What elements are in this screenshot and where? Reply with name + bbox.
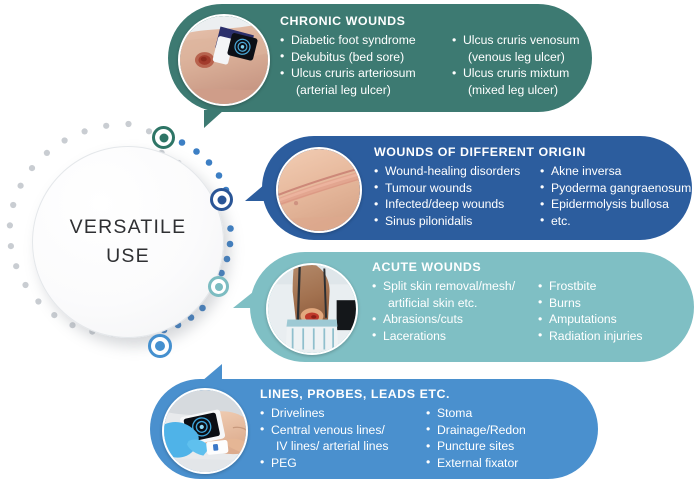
panel-chronic-col-right: Ulcus cruris venosum (venous leg ulcer) …: [452, 32, 580, 98]
hub-title-line-2: USE: [106, 242, 150, 271]
list-item: Radiation injuries: [538, 328, 643, 345]
list-item: (mixed leg ulcer): [452, 82, 580, 99]
list-item: IV lines/ arterial lines: [260, 438, 426, 455]
panel-content-lines: LINES, PROBES, LEADS ETC. Drivelines Cen…: [248, 379, 598, 471]
list-item: Pyoderma gangraenosum: [540, 180, 691, 197]
list-item: Abrasions/cuts: [372, 311, 538, 328]
hub-circle: VERSATILE USE: [32, 146, 224, 338]
list-item: Wound-healing disorders: [374, 163, 540, 180]
panel-origin-col-right: Akne inversa Pyoderma gangraenosum Epide…: [540, 163, 691, 229]
list-item: Lacerations: [372, 328, 538, 345]
list-item: Diabetic foot syndrome: [280, 32, 452, 49]
infographic-canvas: VERSATILE USE: [0, 0, 700, 483]
list-item: Drivelines: [260, 405, 426, 422]
panel-title-origin: WOUNDS OF DIFFERENT ORIGIN: [374, 145, 692, 159]
list-item: Ulcus cruris arteriosum: [280, 65, 452, 82]
list-item: Ulcus cruris mixtum: [452, 65, 580, 82]
list-item: Epidermolysis bullosa: [540, 196, 691, 213]
panel-lines-col-left: Drivelines Central venous lines/ IV line…: [260, 405, 426, 471]
list-item: etc.: [540, 213, 691, 230]
list-item: External fixator: [426, 455, 526, 472]
panel-lines-probes-leads[interactable]: LINES, PROBES, LEADS ETC. Drivelines Cen…: [150, 379, 598, 479]
list-item: Burns: [538, 295, 643, 312]
hub-group: VERSATILE USE: [6, 118, 251, 366]
panel-wounds-of-different-origin[interactable]: WOUNDS OF DIFFERENT ORIGIN Wound-healing…: [262, 136, 692, 240]
list-item: artificial skin etc.: [372, 295, 538, 312]
connector-node-lines: [148, 334, 172, 358]
panel-content-acute: ACUTE WOUNDS Split skin removal/mesh/ ar…: [358, 252, 694, 344]
panel-chronic-col-left: Diabetic foot syndrome Dekubitus (bed so…: [280, 32, 452, 98]
list-item: Puncture sites: [426, 438, 526, 455]
list-item: Stoma: [426, 405, 526, 422]
thumbnail-lines-probes: [162, 388, 248, 474]
list-item: Dekubitus (bed sore): [280, 49, 452, 66]
list-item: Frostbite: [538, 278, 643, 295]
list-item: Central venous lines/: [260, 422, 426, 439]
thumbnail-chronic-wound: [178, 14, 270, 106]
list-item: Split skin removal/mesh/: [372, 278, 538, 295]
panel-origin-col-left: Wound-healing disorders Tumour wounds In…: [374, 163, 540, 229]
panel-title-acute: ACUTE WOUNDS: [372, 260, 694, 274]
list-item: Infected/deep wounds: [374, 196, 540, 213]
hub-title-line-1: VERSATILE: [70, 213, 187, 242]
list-item: Sinus pilonidalis: [374, 213, 540, 230]
list-item: Drainage/Redon: [426, 422, 526, 439]
panel-content-origin: WOUNDS OF DIFFERENT ORIGIN Wound-healing…: [362, 136, 692, 229]
panel-title-lines: LINES, PROBES, LEADS ETC.: [260, 387, 598, 401]
connector-node-origin: [210, 188, 233, 211]
list-item: Ulcus cruris venosum: [452, 32, 580, 49]
list-item: Tumour wounds: [374, 180, 540, 197]
panel-content-chronic: CHRONIC WOUNDS Diabetic foot syndrome De…: [270, 4, 592, 98]
list-item: Akne inversa: [540, 163, 691, 180]
panel-acute-col-right: Frostbite Burns Amputations Radiation in…: [538, 278, 643, 344]
thumbnail-surgical-wound: [276, 147, 362, 233]
panel-acute-col-left: Split skin removal/mesh/ artificial skin…: [372, 278, 538, 344]
connector-node-chronic: [152, 126, 175, 149]
panel-acute-wounds[interactable]: ACUTE WOUNDS Split skin removal/mesh/ ar…: [250, 252, 694, 362]
panel-lines-col-right: Stoma Drainage/Redon Puncture sites Exte…: [426, 405, 526, 471]
connector-node-acute: [208, 276, 229, 297]
panel-chronic-wounds[interactable]: CHRONIC WOUNDS Diabetic foot syndrome De…: [168, 4, 592, 112]
list-item: (venous leg ulcer): [452, 49, 580, 66]
panel-tail-chronic: [204, 110, 224, 128]
list-item: (arterial leg ulcer): [280, 82, 452, 99]
list-item: Amputations: [538, 311, 643, 328]
panel-title-chronic: CHRONIC WOUNDS: [280, 14, 592, 28]
thumbnail-acute-wound: [266, 263, 358, 355]
list-item: PEG: [260, 455, 426, 472]
